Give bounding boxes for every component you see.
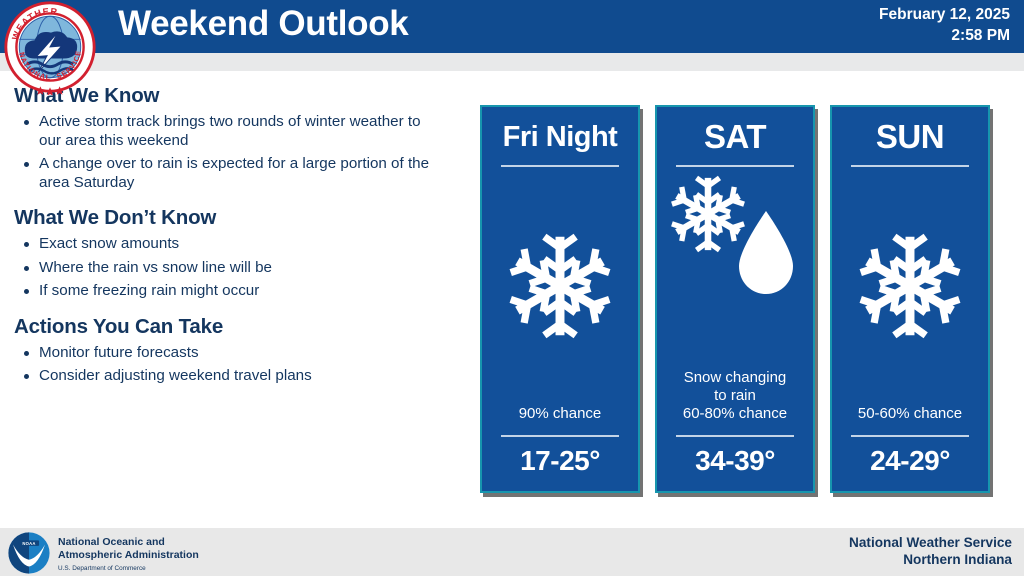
issue-time: 2:58 PM [879,25,1010,46]
raindrop-icon [735,209,797,302]
forecast-card-sun: SUN [830,105,990,493]
card-condition-text: Snow changing to rain 60-80% chance [681,369,789,423]
office-region: Northern Indiana [849,552,1012,569]
forecast-card-fri-night: Fri Night [480,105,640,493]
list-item: Active storm track brings two rounds of … [20,113,444,150]
condition-line: 60-80% chance [683,405,787,423]
list-item: Where the rain vs snow line will be [20,259,444,278]
card-icon-area [663,171,807,369]
card-icon-area [488,171,632,405]
list-item: If some freezing rain might occur [20,282,444,301]
bullet-list-what-we-dont-know: Exact snow amounts Where the rain vs sno… [20,235,444,301]
card-divider-bottom [501,435,619,437]
page-title: Weekend Outlook [118,4,408,44]
noaa-department: U.S. Department of Commerce [58,563,199,574]
forecast-card-sat: SAT [655,105,815,493]
header-bar: Weekend Outlook February 12, 2025 2:58 P… [0,0,1024,53]
section-heading-actions-you-can-take: Actions You Can Take [14,315,444,339]
list-item: Exact snow amounts [20,235,444,254]
card-temperature: 17-25° [520,445,600,477]
list-item: Monitor future forecasts [20,344,444,363]
card-divider-top [676,165,794,167]
noaa-name-line-2: Atmospheric Administration [58,549,199,562]
noaa-name-line-1: National Oceanic and [58,536,199,549]
issuing-office: National Weather Service Northern Indian… [849,535,1012,568]
card-day-label: Fri Night [503,117,618,157]
section-heading-what-we-dont-know: What We Don’t Know [14,206,444,230]
issue-date: February 12, 2025 [879,4,1010,25]
list-item: A change over to rain is expected for a … [20,155,444,192]
card-day-label: SAT [704,117,766,157]
card-divider-bottom [676,435,794,437]
list-item: Consider adjusting weekend travel plans [20,367,444,386]
noaa-logo-icon: NOAA [8,532,50,574]
card-day-label: SUN [876,117,944,157]
card-condition-text: 90% chance [517,405,604,423]
bullet-list-actions: Monitor future forecasts Consider adjust… [20,344,444,386]
outlook-details: What We Know Active storm track brings t… [14,84,444,391]
card-divider-top [501,165,619,167]
noaa-agency-text: National Oceanic and Atmospheric Adminis… [58,536,199,574]
card-icon-area [838,171,982,405]
weather-outlook-graphic: Weekend Outlook February 12, 2025 2:58 P… [0,0,1024,576]
card-divider-bottom [851,435,969,437]
card-divider-top [851,165,969,167]
header-gray-band [0,53,1024,71]
condition-line: Snow changing [683,369,787,387]
card-condition-text: 50-60% chance [856,405,964,423]
header-datetime: February 12, 2025 2:58 PM [879,4,1010,46]
bullet-list-what-we-know: Active storm track brings two rounds of … [20,113,444,192]
office-name: National Weather Service [849,535,1012,552]
card-temperature: 34-39° [695,445,775,477]
card-temperature: 24-29° [870,445,950,477]
snowflake-icon [854,227,966,350]
forecast-card-row: Fri Night [480,105,1010,493]
condition-line: to rain [683,387,787,405]
nws-seal-icon: WEATHER NATIONAL SERVICE [2,0,98,95]
snowflake-icon [504,227,616,350]
svg-text:NOAA: NOAA [22,541,35,546]
footer-bar: NOAA National Oceanic and Atmospheric Ad… [0,528,1024,576]
